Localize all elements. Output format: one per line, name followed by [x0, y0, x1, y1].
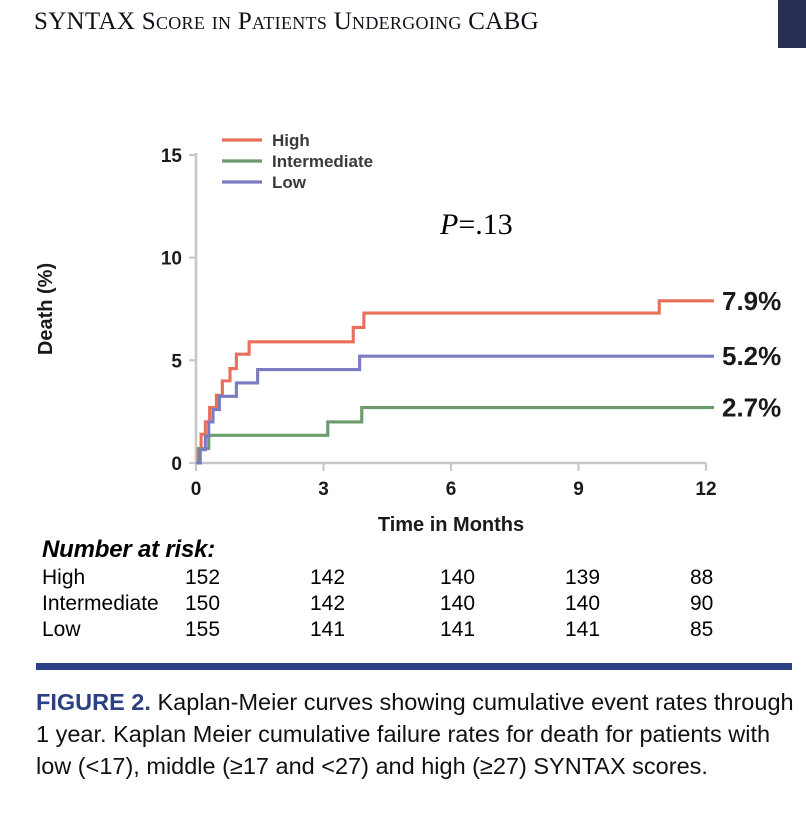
- legend-label-intermediate: Intermediate: [272, 152, 373, 171]
- risk-row-label: High: [42, 566, 85, 590]
- risk-cell: 141: [440, 618, 475, 642]
- risk-cell: 150: [185, 592, 220, 616]
- y-tick-label: 15: [161, 146, 183, 167]
- risk-table-row: Low15514114114185: [42, 618, 772, 644]
- legend-label-low: Low: [272, 173, 307, 192]
- caption-divider-rule: [36, 663, 792, 670]
- risk-cell: 141: [310, 618, 345, 642]
- risk-cell: 140: [440, 592, 475, 616]
- kaplan-meier-chart: 051015036912Time in MonthsDeath (%)7.9%2…: [0, 110, 806, 540]
- pvalue-annotation: P=.13: [439, 208, 513, 241]
- risk-cell: 85: [690, 618, 713, 642]
- x-tick-label: 0: [191, 479, 202, 500]
- risk-cell: 152: [185, 566, 220, 590]
- figure-caption-label: FIGURE 2.: [36, 689, 151, 715]
- km-curve-low: [196, 356, 706, 463]
- risk-cell: 140: [565, 592, 600, 616]
- x-tick-label: 6: [446, 479, 457, 500]
- km-curve-intermediate: [196, 408, 706, 463]
- y-tick-label: 0: [171, 454, 182, 475]
- endpoint-label-intermediate: 2.7%: [722, 393, 781, 423]
- endpoint-label-low: 5.2%: [722, 341, 781, 371]
- number-at-risk-table: Number at risk: High15214214013988Interm…: [42, 536, 772, 644]
- km-curve-high: [196, 301, 706, 463]
- risk-cell: 142: [310, 566, 345, 590]
- page-edge-artifact: [778, 0, 806, 48]
- risk-row-label: Low: [42, 618, 81, 642]
- x-axis-title: Time in Months: [378, 514, 524, 536]
- risk-cell: 139: [565, 566, 600, 590]
- risk-row-label: Intermediate: [42, 592, 159, 616]
- risk-cell: 141: [565, 618, 600, 642]
- x-tick-label: 3: [318, 479, 329, 500]
- risk-cell: 140: [440, 566, 475, 590]
- risk-cell: 142: [310, 592, 345, 616]
- endpoint-label-high: 7.9%: [722, 286, 781, 316]
- x-tick-label: 9: [573, 479, 584, 500]
- y-axis-title: Death (%): [35, 263, 57, 355]
- x-tick-label: 12: [695, 479, 716, 500]
- risk-cell: 155: [185, 618, 220, 642]
- y-tick-label: 5: [171, 351, 182, 372]
- risk-table-row: High15214214013988: [42, 566, 772, 592]
- risk-cell: 88: [690, 566, 713, 590]
- risk-cell: 90: [690, 592, 713, 616]
- figure-caption: FIGURE 2. Kaplan-Meier curves showing cu…: [36, 686, 798, 782]
- page-title: SYNTAX Score in Patients Undergoing CABG: [34, 8, 539, 36]
- legend-label-high: High: [272, 131, 310, 150]
- y-tick-label: 10: [161, 249, 182, 270]
- risk-table-row: Intermediate15014214014090: [42, 592, 772, 618]
- figure-chart-area: 051015036912Time in MonthsDeath (%)7.9%2…: [0, 110, 806, 540]
- risk-table-title: Number at risk:: [42, 536, 772, 564]
